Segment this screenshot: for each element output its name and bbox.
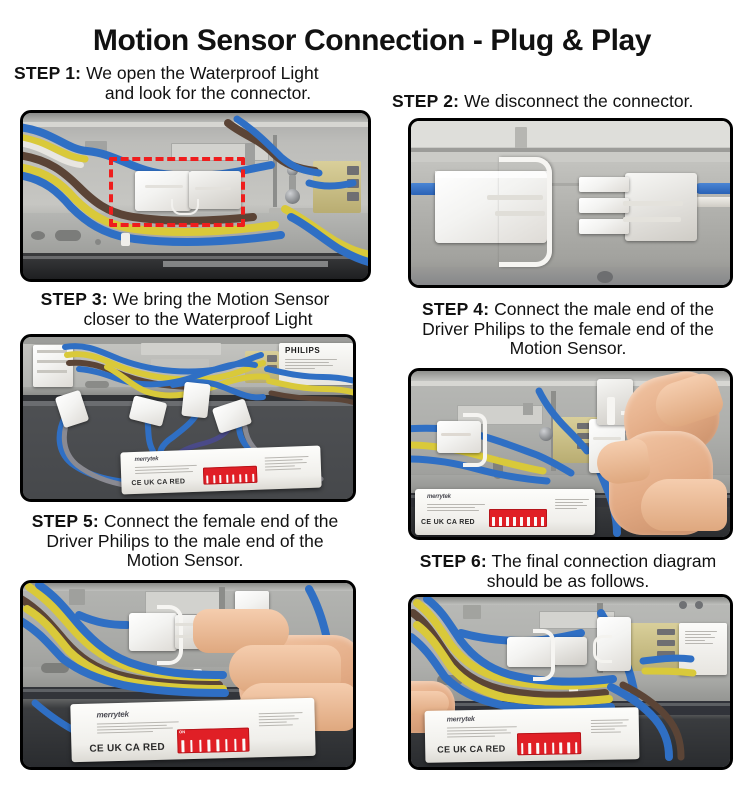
step-5-photo: merrytek CE UK CA RED ON — [20, 580, 356, 770]
step-6-label: STEP 6: — [420, 551, 487, 571]
motion-sensor-module: merrytek CE UK CA RED — [425, 707, 640, 763]
module-brand-text: merrytek — [96, 710, 128, 720]
instruction-sheet: Motion Sensor Connection - Plug & Play S… — [0, 0, 744, 800]
step-1-line-1: We open the Waterproof Light — [86, 63, 319, 83]
step-3-photo: PHILIPS — [20, 334, 356, 502]
step-2-photo — [408, 118, 733, 288]
step-4-photo: merrytek CE UK CA RED — [408, 368, 733, 540]
step-6-caption: STEP 6: The final connection diagram sho… — [392, 552, 744, 591]
module-brand-text: merrytek — [134, 456, 158, 463]
dip-switch — [203, 466, 258, 485]
step-4-line-3: Motion Sensor. — [392, 339, 744, 359]
step-4-caption: STEP 4: Connect the male end of the Driv… — [392, 300, 744, 359]
step-4-label: STEP 4: — [422, 299, 489, 319]
module-compliance-marks: CE UK CA RED — [421, 519, 475, 526]
step-3-line-1: We bring the Motion Sensor — [113, 289, 330, 309]
page-title: Motion Sensor Connection - Plug & Play — [0, 26, 744, 56]
dip-switch-on-label: ON — [179, 729, 185, 734]
dip-switch — [489, 509, 547, 527]
motion-sensor-module: merrytek CE UK CA RED ON — [70, 698, 315, 762]
connector-pin-1 — [579, 177, 629, 192]
connector-male — [625, 173, 697, 241]
step-5-caption: STEP 5: Connect the female end of the Dr… — [4, 512, 366, 571]
module-compliance-marks: CE UK CA RED — [131, 478, 185, 487]
module-brand-text: merrytek — [427, 494, 451, 500]
dip-switch: ON — [177, 728, 250, 754]
module-compliance-marks: CE UK CA RED — [89, 742, 165, 755]
step-6-line-2: should be as follows. — [392, 572, 744, 592]
module-compliance-marks: CE UK CA RED — [437, 743, 505, 754]
step-4-line-2: Driver Philips to the female end of the — [392, 320, 744, 340]
dip-switch — [517, 732, 581, 755]
step-1-line-2: and look for the connector. — [8, 84, 368, 104]
module-brand-text: merrytek — [447, 716, 475, 723]
step-2-label: STEP 2: — [392, 91, 459, 111]
step-5-label: STEP 5: — [32, 511, 99, 531]
step-6-photo: merrytek CE UK CA RED — [408, 594, 733, 770]
connector-pin-2 — [579, 198, 629, 213]
step-3-caption: STEP 3: We bring the Motion Sensor close… — [4, 290, 366, 329]
step-2-caption: STEP 2: We disconnect the connector. — [392, 92, 744, 112]
step-1-label: STEP 1: — [14, 63, 81, 83]
step-1-photo — [20, 110, 371, 282]
connector-3 — [181, 382, 210, 419]
step-4-line-1: Connect the male end of the — [494, 299, 714, 319]
connector-joined-right — [553, 637, 587, 665]
step-1-caption: STEP 1: We open the Waterproof Light and… — [8, 64, 368, 103]
step-5-line-3: Motion Sensor. — [4, 551, 366, 571]
step-3-label: STEP 3: — [41, 289, 108, 309]
motion-sensor-module: merrytek CE UK CA RED — [120, 446, 321, 495]
step-6-line-1: The final connection diagram — [492, 551, 717, 571]
step-5-line-2: Driver Philips to the male end of the — [4, 532, 366, 552]
motion-sensor-module: merrytek CE UK CA RED — [415, 489, 595, 535]
connector-pin-3 — [579, 219, 629, 234]
step-3-line-2: closer to the Waterproof Light — [4, 310, 366, 330]
step-5-line-1: Connect the female end of the — [104, 511, 338, 531]
step-2-line-1: We disconnect the connector. — [464, 91, 693, 111]
